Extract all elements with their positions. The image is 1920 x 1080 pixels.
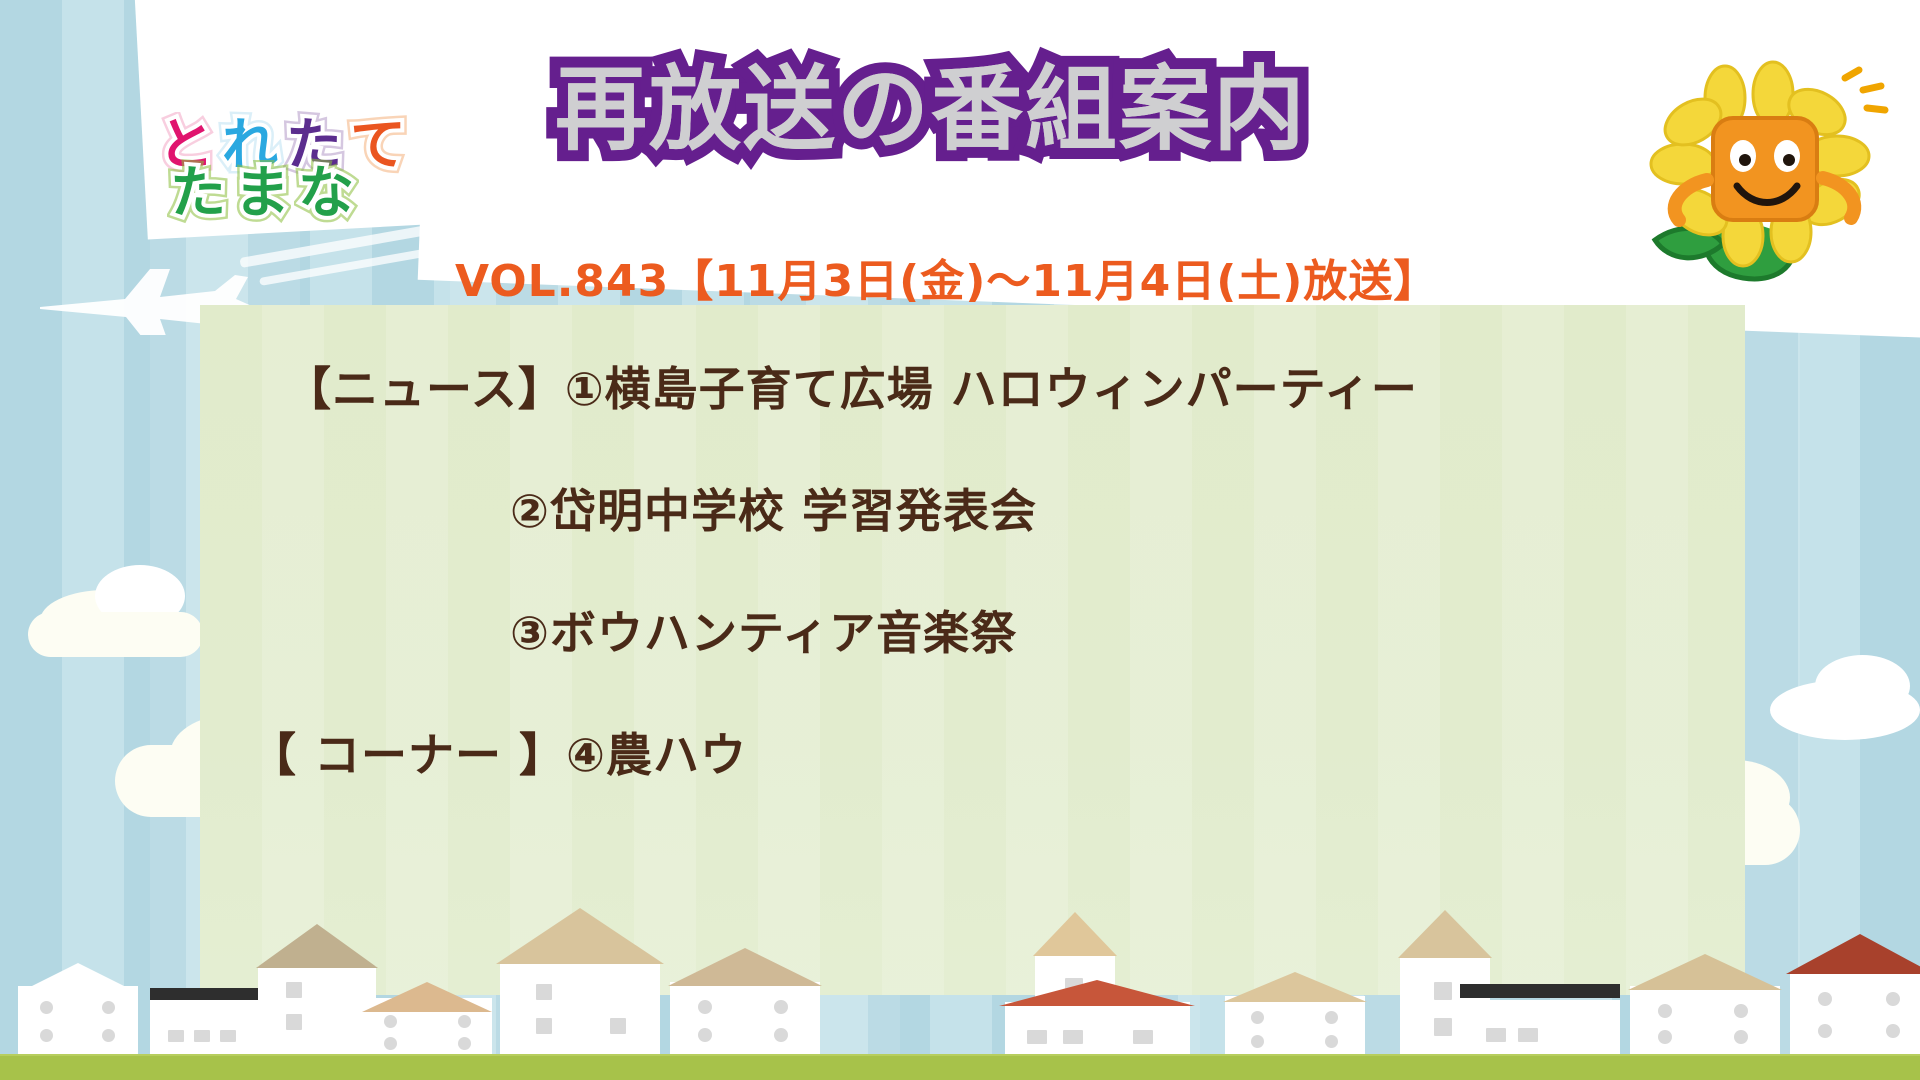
logo-line-2: た た た ま ま ま な な な	[140, 166, 470, 222]
list-item: ③ボウハンティア音楽祭	[200, 597, 1745, 663]
list-item-text: ③ボウハンティア音楽祭	[510, 597, 1017, 663]
logo-char-ta2: た た た	[170, 166, 226, 222]
house-icon	[362, 968, 492, 1058]
page-title: 再放送の番組案内 再放送の番組案内	[555, 62, 1307, 159]
list-item: ②岱明中学校 学習発表会	[200, 475, 1745, 541]
house-icon	[1225, 960, 1365, 1058]
logo-char-na: な な な	[298, 166, 354, 222]
list-item-text: 【 コーナー 】④農ハウ	[250, 719, 747, 785]
house-icon	[500, 908, 660, 1058]
list-item-text: 【ニュース】①横島子育て広場 ハロウィンパーティー	[285, 353, 1418, 419]
house-icon	[18, 963, 138, 1058]
content-list: 【ニュース】①横島子育て広場 ハロウィンパーティー ②岱明中学校 学習発表会 ③…	[200, 305, 1745, 785]
logo-char-ma: ま ま ま	[234, 166, 290, 222]
list-item: 【 コーナー 】④農ハウ	[200, 719, 1745, 785]
house-icon	[1005, 970, 1190, 1058]
slide-title-container: 再放送の番組案内 再放送の番組案内	[555, 62, 1307, 159]
house-icon	[1790, 928, 1920, 1058]
house-icon	[1460, 976, 1620, 1058]
town-silhouette	[0, 868, 1920, 1058]
house-icon	[258, 918, 376, 1058]
cloud-icon	[28, 612, 203, 657]
list-item-text: ②岱明中学校 学習発表会	[510, 475, 1037, 541]
sunflower-mascot-icon	[1595, 60, 1915, 310]
house-icon	[1630, 948, 1780, 1058]
program-logo: と と と れ れ れ た た た て て て た た	[140, 118, 470, 278]
list-item: 【ニュース】①横島子育て広場 ハロウィンパーティー	[200, 353, 1745, 419]
broadcast-slide: と と と れ れ れ た た た て て て た た	[0, 0, 1920, 1080]
logo-char-te: て て て	[350, 118, 406, 174]
cloud-icon	[1815, 655, 1910, 717]
ground-strip	[0, 1056, 1920, 1080]
house-icon	[670, 938, 820, 1058]
volume-date-subtitle: VOL.843【11月3日(金)〜11月4日(土)放送】	[455, 245, 1438, 309]
page-title-fill: 再放送の番組案内	[555, 62, 1307, 159]
